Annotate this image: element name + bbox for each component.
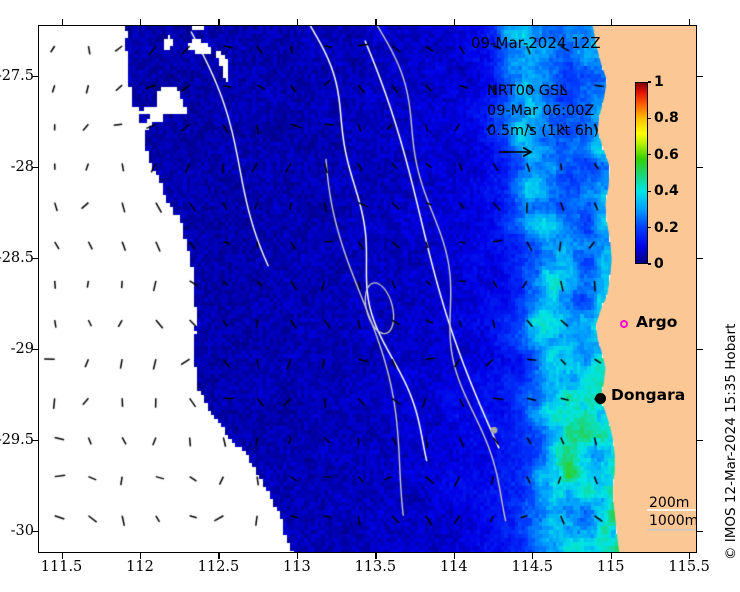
y-tickmark-right xyxy=(697,440,703,441)
x-tickmark xyxy=(375,553,376,559)
x-tick-115.5: 115.5 xyxy=(668,559,710,575)
x-tickmark xyxy=(297,553,298,559)
depth-1000m-label: 1000m xyxy=(649,513,697,529)
copyright-credit: © IMOS 12-Mar-2024 15:35 Hobart xyxy=(723,324,739,560)
x-tickmark xyxy=(140,553,141,559)
dongara-label: Dongara xyxy=(611,386,685,404)
y-tick--29: -29 xyxy=(0,341,34,357)
x-tickmark xyxy=(689,553,690,559)
y-tickmark xyxy=(32,531,38,532)
x-tick-113.5: 113.5 xyxy=(355,559,397,575)
map-title-stamp: 09-Mar-2024 12Z xyxy=(471,34,601,52)
x-tickmark xyxy=(218,553,219,559)
x-tickmark-top xyxy=(297,19,298,25)
y-tickmark-right xyxy=(697,531,703,532)
x-tickmark-top xyxy=(375,19,376,25)
current-time-label: 09-Mar 06:00Z xyxy=(487,103,594,119)
y-tickmark xyxy=(32,349,38,350)
argo-marker-icon xyxy=(620,320,628,328)
x-tickmark-top xyxy=(689,19,690,25)
x-tick-112.5: 112.5 xyxy=(198,559,240,575)
current-source-label: NRT00 GSL xyxy=(487,83,567,99)
contours-and-vectors-overlay xyxy=(39,26,697,553)
y-tick--28: -28 xyxy=(0,159,34,175)
x-tickmark xyxy=(611,553,612,559)
colorbar-tick-0.8: 0.8 xyxy=(654,110,679,126)
dongara-marker-icon xyxy=(595,393,606,404)
x-tickmark xyxy=(532,553,533,559)
x-tickmark-top xyxy=(532,19,533,25)
y-tickmark-right xyxy=(697,76,703,77)
y-tickmark xyxy=(32,440,38,441)
y-tickmark-right xyxy=(697,167,703,168)
x-tick-114: 114 xyxy=(440,559,468,575)
x-tick-111.5: 111.5 xyxy=(41,559,83,575)
colorbar-tickmark xyxy=(648,81,651,82)
x-tickmark-top xyxy=(218,19,219,25)
argo-label: Argo xyxy=(636,313,677,331)
x-tick-115: 115 xyxy=(597,559,625,575)
x-tick-113: 113 xyxy=(283,559,311,575)
y-tickmark xyxy=(32,258,38,259)
x-tick-114.5: 114.5 xyxy=(511,559,553,575)
map-plot-area[interactable]: 09-Mar-2024 12Z NRT00 GSL 09-Mar 06:00Z … xyxy=(38,25,697,553)
x-tickmark-top xyxy=(454,19,455,25)
vector-scale-label: 0.5m/s (1kt 6h) xyxy=(487,123,599,139)
x-tickmark-top xyxy=(611,19,612,25)
depth-200m-swatch xyxy=(647,509,697,511)
y-tickmark xyxy=(32,167,38,168)
x-tick-112: 112 xyxy=(126,559,154,575)
depth-1000m-swatch xyxy=(647,529,697,531)
y-tickmark-right xyxy=(697,349,703,350)
colorbar-tickmark xyxy=(648,154,651,155)
x-tickmark-top xyxy=(62,19,63,25)
x-tickmark-top xyxy=(140,19,141,25)
reference-arrow-icon xyxy=(498,145,538,159)
colorbar-tickmark xyxy=(648,191,651,192)
y-tickmark-right xyxy=(697,258,703,259)
y-tick--30: -30 xyxy=(0,523,34,539)
y-tick--28.5: -28.5 xyxy=(0,250,34,266)
colorbar-tick-0.2: 0.2 xyxy=(654,220,679,236)
y-tickmark xyxy=(32,76,38,77)
colorbar-tick-0: 0 xyxy=(654,256,664,272)
x-tickmark xyxy=(62,553,63,559)
colorbar-gradient xyxy=(635,82,648,264)
y-tick--27.5: -27.5 xyxy=(0,68,34,84)
y-tick--29.5: -29.5 xyxy=(0,432,34,448)
colorbar-tickmark xyxy=(648,227,651,228)
colorbar-tick-1: 1 xyxy=(654,74,664,90)
colorbar-tickmark xyxy=(648,118,651,119)
colorbar-tick-0.4: 0.4 xyxy=(654,183,679,199)
colorbar-tick-0.6: 0.6 xyxy=(654,147,679,163)
figure-root: 09-Mar-2024 12Z NRT00 GSL 09-Mar 06:00Z … xyxy=(0,0,740,592)
x-tickmark xyxy=(454,553,455,559)
colorbar-tickmark xyxy=(648,263,651,264)
